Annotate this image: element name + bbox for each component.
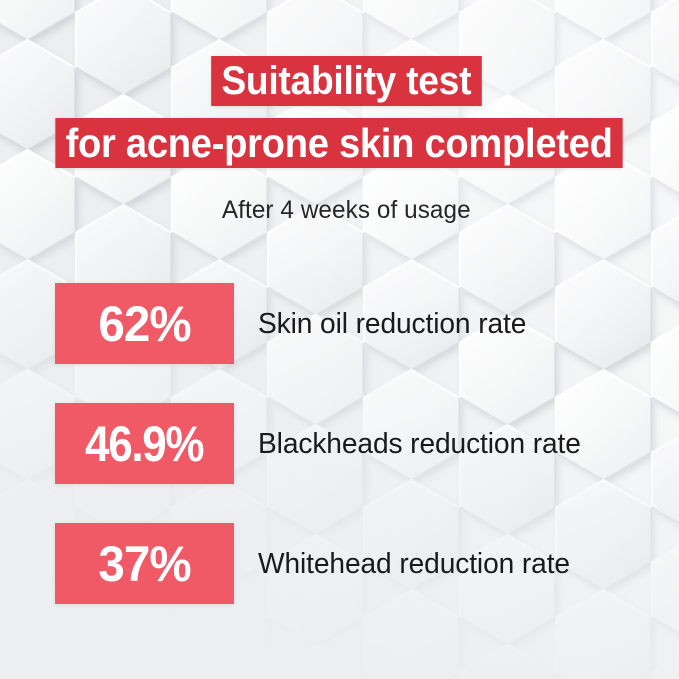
stat-row: 37% Whitehead reduction rate [0, 523, 679, 604]
stat-value-box: 37% [55, 523, 234, 604]
stat-value-box: 62% [55, 283, 234, 364]
subtitle-text: After 4 weeks of usage [10, 194, 669, 226]
stat-row: 46.9% Blackheads reduction rate [0, 403, 679, 484]
headline-line-2: for acne-prone skin completed [56, 118, 623, 168]
headline-line-1-row: Suitability test [0, 56, 679, 106]
stat-value-box: 46.9% [55, 403, 234, 484]
stat-value: 37% [98, 538, 190, 590]
stat-value: 46.9% [85, 418, 203, 470]
stat-row: 62% Skin oil reduction rate [0, 283, 679, 364]
stat-label: Whitehead reduction rate [258, 523, 570, 604]
stats-list: 62% Skin oil reduction rate 46.9% Blackh… [0, 283, 679, 643]
headline-block: Suitability test for acne-prone skin com… [0, 56, 679, 180]
stat-label: Blackheads reduction rate [258, 403, 581, 484]
headline-line-2-row: for acne-prone skin completed [0, 118, 679, 168]
headline-line-1: Suitability test [211, 56, 481, 106]
stat-value: 62% [98, 298, 190, 350]
poster-canvas: Suitability test for acne-prone skin com… [0, 0, 679, 679]
stat-label: Skin oil reduction rate [258, 283, 526, 364]
